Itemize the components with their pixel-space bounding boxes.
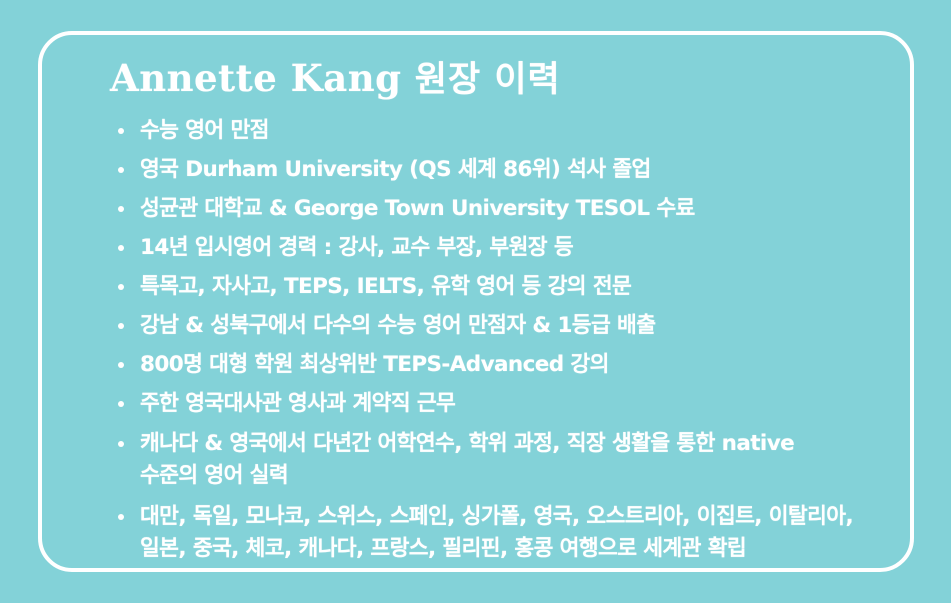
bullet-dot-icon [118, 323, 124, 329]
bullet-dot-icon [118, 206, 124, 212]
list-item: 14년 입시영어 경력 : 강사, 교수 부장, 부원장 등 [118, 228, 888, 267]
list-item: 성균관 대학교 & George Town University TESOL 수… [118, 189, 888, 228]
bullet-dot-icon [118, 401, 124, 407]
slide-content: Annette Kang 원장 이력 수능 영어 만점 영국 Durham Un… [38, 31, 914, 572]
bullet-dot-icon [118, 245, 124, 251]
bullet-dot-icon [118, 284, 124, 290]
slide-canvas: Annette Kang 원장 이력 수능 영어 만점 영국 Durham Un… [0, 0, 951, 603]
list-item-text: 800명 대형 학원 최상위반 TEPS-Advanced 강의 [140, 345, 888, 384]
list-item: 대만, 독일, 모나코, 스위스, 스페인, 싱가폴, 영국, 오스트리아, 이… [118, 496, 888, 569]
list-item-text: 대만, 독일, 모나코, 스위스, 스페인, 싱가폴, 영국, 오스트리아, 이… [140, 500, 888, 533]
list-item: 주한 영국대사관 영사과 계약직 근무 [118, 384, 888, 423]
list-item-text: 14년 입시영어 경력 : 강사, 교수 부장, 부원장 등 [140, 228, 888, 267]
credentials-list: 수능 영어 만점 영국 Durham University (QS 세계 86위… [110, 111, 888, 569]
list-item: 특목고, 자사고, TEPS, IELTS, 유학 영어 등 강의 전문 [118, 267, 888, 306]
list-item-text-continued: 일본, 중국, 체코, 캐나다, 프랑스, 필리핀, 홍콩 여행으로 세계관 확… [140, 532, 888, 565]
list-item-text-continued: 수준의 영어 실력 [140, 459, 888, 492]
bullet-dot-icon [118, 441, 124, 447]
list-item-text: 캐나다 & 영국에서 다년간 어학연수, 학위 과정, 직장 생활을 통한 na… [140, 427, 888, 460]
list-item: 영국 Durham University (QS 세계 86위) 석사 졸업 [118, 150, 888, 189]
page-title-korean: 원장 이력 [402, 60, 561, 100]
list-item-text: 수능 영어 만점 [140, 111, 888, 150]
list-item-text: 특목고, 자사고, TEPS, IELTS, 유학 영어 등 강의 전문 [140, 267, 888, 306]
list-item: 캐나다 & 영국에서 다년간 어학연수, 학위 과정, 직장 생활을 통한 na… [118, 423, 888, 496]
list-item-text: 성균관 대학교 & George Town University TESOL 수… [140, 189, 888, 228]
bullet-dot-icon [118, 167, 124, 173]
bullet-dot-icon [118, 128, 124, 134]
page-title: Annette Kang 원장 이력 [110, 53, 888, 105]
list-item: 800명 대형 학원 최상위반 TEPS-Advanced 강의 [118, 345, 888, 384]
list-item: 강남 & 성북구에서 다수의 수능 영어 만점자 & 1등급 배출 [118, 306, 888, 345]
page-title-latin: Annette Kang [110, 56, 402, 100]
list-item: 수능 영어 만점 [118, 111, 888, 150]
list-item-text: 주한 영국대사관 영사과 계약직 근무 [140, 384, 888, 423]
bullet-dot-icon [118, 514, 124, 520]
list-item-text: 영국 Durham University (QS 세계 86위) 석사 졸업 [140, 150, 888, 189]
bullet-dot-icon [118, 362, 124, 368]
list-item-text: 강남 & 성북구에서 다수의 수능 영어 만점자 & 1등급 배출 [140, 306, 888, 345]
